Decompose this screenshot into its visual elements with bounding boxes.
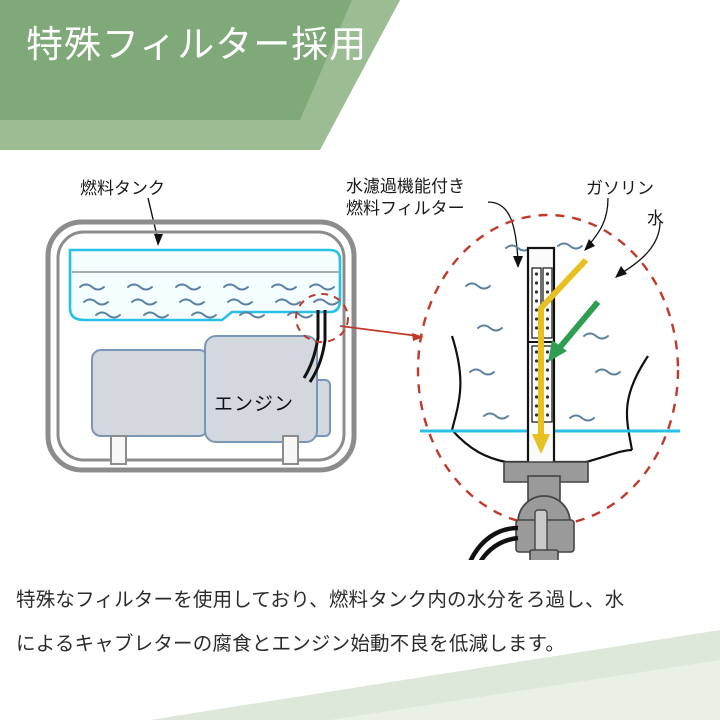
corner-wedge-light	[330, 660, 720, 720]
caption-line-1: 特殊なフィルターを使用しており、燃料タンク内の水分をろ過し、水	[16, 578, 708, 622]
generator-foot-right	[283, 436, 298, 464]
fuel-tank-outline	[70, 250, 340, 320]
water-flow-arrow	[556, 302, 598, 352]
generator-illustration	[48, 222, 354, 470]
alternator-box	[92, 350, 208, 436]
caption-text: 特殊なフィルターを使用しており、燃料タンク内の水分をろ過し、水 によるキャブレタ…	[16, 578, 708, 666]
leader-fuel-tank	[148, 198, 158, 240]
infographic-page: 特殊フィルター採用	[0, 0, 720, 720]
tank-wall-left	[452, 336, 460, 430]
caption-line-2: によるキャブレターの腐食とエンジン始動不良を低減します。	[16, 622, 708, 666]
leader-filter-arrow	[513, 256, 523, 268]
leader-filter	[488, 202, 518, 262]
valve-outlet	[530, 550, 558, 560]
label-fuel-tank: 燃料タンク	[80, 178, 165, 200]
tank-wall-right	[627, 356, 648, 450]
leader-gasoline-arrow	[584, 239, 595, 251]
leader-water-arrow	[615, 266, 627, 278]
label-engine: エンジン	[214, 389, 294, 416]
label-filter: 水濾過機能付き 燃料フィルター	[346, 176, 465, 220]
label-filter-line2: 燃料フィルター	[346, 199, 465, 218]
label-gasoline: ガソリン	[586, 178, 654, 200]
leader-gasoline	[588, 198, 608, 246]
generator-foot-left	[111, 436, 126, 464]
label-water: 水	[647, 208, 664, 230]
filter-detail-view	[418, 215, 680, 560]
leader-fuel-tank-arrow	[154, 234, 163, 246]
page-title: 特殊フィルター採用	[26, 22, 367, 68]
label-filter-line1: 水濾過機能付き	[346, 177, 465, 196]
